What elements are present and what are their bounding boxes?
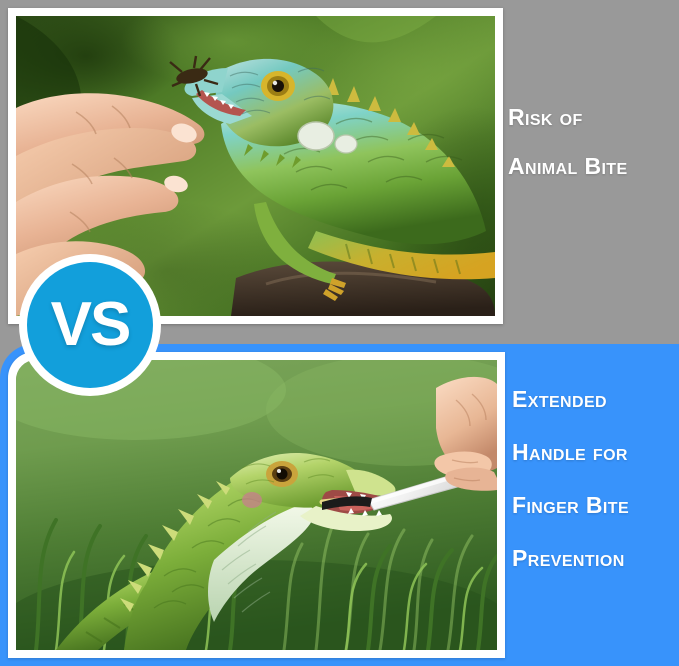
top-caption-line-2: Animal Bite bbox=[508, 155, 679, 178]
top-caption: Risk of Animal Bite bbox=[508, 106, 679, 178]
bottom-caption-line-3: Finger Bite bbox=[512, 494, 679, 517]
bottom-caption-line-1: Extended bbox=[512, 388, 679, 411]
lizard-tongs-feeding-illustration bbox=[16, 360, 497, 650]
bottom-caption-line-2: Handle for bbox=[512, 441, 679, 464]
bottom-caption-line-4: Prevention bbox=[512, 547, 679, 570]
bottom-photo bbox=[16, 360, 497, 650]
bottom-panel: Extended Handle for Finger Bite Preventi… bbox=[0, 344, 679, 666]
top-caption-line-1: Risk of bbox=[508, 106, 679, 129]
infographic-canvas: Risk of Animal Bite bbox=[0, 0, 679, 666]
vs-badge-label: VS bbox=[51, 294, 130, 356]
vs-badge: VS bbox=[27, 262, 153, 388]
bottom-caption: Extended Handle for Finger Bite Preventi… bbox=[512, 388, 679, 570]
bottom-photo-frame bbox=[8, 352, 505, 658]
